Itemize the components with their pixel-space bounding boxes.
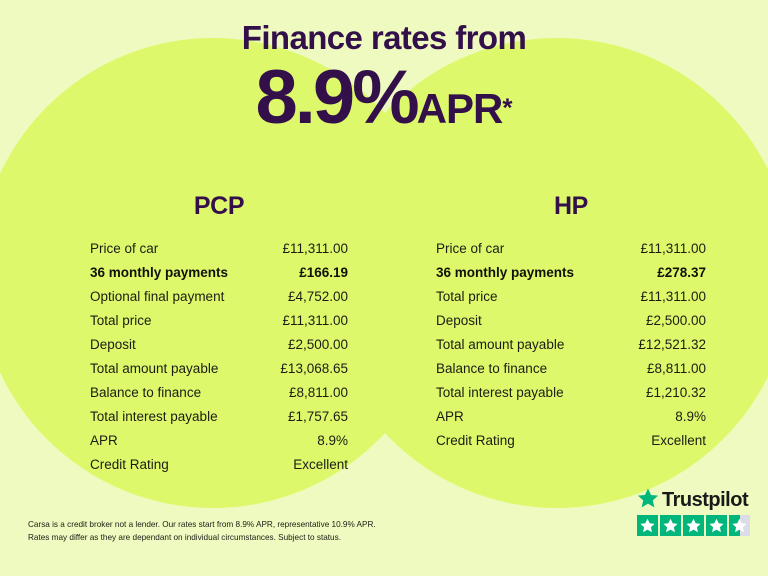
row-value: £8,811.00	[281, 385, 348, 402]
row-label: APR	[436, 409, 464, 426]
row-value: £11,311.00	[274, 313, 348, 330]
row-value: £4,752.00	[280, 289, 348, 306]
plan-hp: HP Price of car£11,311.00 36 monthly pay…	[384, 192, 768, 478]
plan-pcp: PCP Price of car£11,311.00 36 monthly pa…	[0, 192, 384, 478]
row-label: Total price	[436, 289, 498, 306]
rate-unit: APR	[417, 85, 503, 132]
table-row: APR8.9%	[436, 405, 706, 429]
row-label: Total interest payable	[90, 409, 218, 426]
table-row: Total interest payable£1,757.65	[90, 405, 348, 429]
table-row: Balance to finance£8,811.00	[436, 357, 706, 381]
headline-rate: 8.9%APR*	[0, 56, 768, 136]
table-row: Price of car£11,311.00	[436, 237, 706, 261]
row-label: 36 monthly payments	[436, 265, 574, 282]
table-row: 36 monthly payments£278.37	[436, 261, 706, 285]
row-value: Excellent	[643, 433, 706, 450]
table-row: Total price£11,311.00	[90, 309, 348, 333]
table-row: Total price£11,311.00	[436, 285, 706, 309]
disclaimer-line-1: Carsa is a credit broker not a lender. O…	[28, 519, 448, 532]
page-title: Finance rates from	[0, 0, 768, 56]
row-value: £11,311.00	[274, 241, 348, 258]
row-value: £166.19	[291, 265, 348, 282]
table-row: Deposit£2,500.00	[90, 333, 348, 357]
table-row: Price of car£11,311.00	[90, 237, 348, 261]
plan-pcp-title: PCP	[90, 192, 348, 221]
row-value: £2,500.00	[280, 337, 348, 354]
table-row: APR8.9%	[90, 430, 348, 454]
row-label: Optional final payment	[90, 289, 224, 306]
row-value: £2,500.00	[638, 313, 706, 330]
row-label: Total amount payable	[90, 361, 218, 378]
trustpilot-wordmark-text: Trustpilot	[662, 489, 748, 512]
row-label: Deposit	[436, 313, 482, 330]
star-icon	[706, 515, 727, 536]
table-row: Balance to finance£8,811.00	[90, 381, 348, 405]
row-label: Balance to finance	[90, 385, 201, 402]
table-row: Credit RatingExcellent	[436, 430, 706, 454]
row-value: £1,210.32	[638, 385, 706, 402]
row-value: £11,311.00	[632, 241, 706, 258]
row-value: 8.9%	[667, 409, 706, 426]
row-value: 8.9%	[309, 433, 348, 450]
trustpilot-stars	[637, 515, 757, 536]
rate-footnote-asterisk: *	[502, 93, 512, 123]
table-row: Credit RatingExcellent	[90, 454, 348, 478]
plan-hp-title: HP	[436, 192, 706, 221]
row-value: £12,521.32	[630, 337, 706, 354]
table-row: Optional final payment£4,752.00	[90, 285, 348, 309]
disclaimer-line-2: Rates may differ as they are dependant o…	[28, 532, 448, 545]
plan-hp-rows: Price of car£11,311.00 36 monthly paymen…	[436, 237, 706, 454]
header: Finance rates from 8.9%APR*	[0, 0, 768, 136]
finance-comparison: PCP Price of car£11,311.00 36 monthly pa…	[0, 192, 768, 478]
row-label: Total amount payable	[436, 337, 564, 354]
trustpilot-rating: Trustpilot	[637, 488, 757, 536]
table-row: Total amount payable£13,068.65	[90, 357, 348, 381]
disclaimer: Carsa is a credit broker not a lender. O…	[28, 519, 448, 544]
table-row: 36 monthly payments£166.19	[90, 261, 348, 285]
star-icon	[660, 515, 681, 536]
row-value: £11,311.00	[632, 289, 706, 306]
row-label: Credit Rating	[436, 433, 515, 450]
table-row: Total interest payable£1,210.32	[436, 381, 706, 405]
star-icon	[637, 515, 658, 536]
star-icon	[683, 515, 704, 536]
row-value: £278.37	[649, 265, 706, 282]
trustpilot-logo: Trustpilot	[637, 488, 757, 512]
row-value: £8,811.00	[639, 361, 706, 378]
plan-pcp-rows: Price of car£11,311.00 36 monthly paymen…	[90, 237, 348, 478]
row-label: Total interest payable	[436, 385, 564, 402]
row-label: Price of car	[90, 241, 158, 258]
row-label: Credit Rating	[90, 457, 169, 474]
table-row: Total amount payable£12,521.32	[436, 333, 706, 357]
row-label: Total price	[90, 313, 152, 330]
row-label: Balance to finance	[436, 361, 547, 378]
row-value: Excellent	[285, 457, 348, 474]
finance-rates-poster: Finance rates from 8.9%APR* PCP Price of…	[0, 0, 768, 576]
table-row: Deposit£2,500.00	[436, 309, 706, 333]
row-label: APR	[90, 433, 118, 450]
row-value: £13,068.65	[272, 361, 348, 378]
row-label: Price of car	[436, 241, 504, 258]
rate-value: 8.9%	[255, 55, 416, 140]
half-star-icon	[729, 515, 750, 536]
row-label: Deposit	[90, 337, 136, 354]
row-label: 36 monthly payments	[90, 265, 228, 282]
row-value: £1,757.65	[280, 409, 348, 426]
trustpilot-star-icon	[637, 487, 659, 514]
